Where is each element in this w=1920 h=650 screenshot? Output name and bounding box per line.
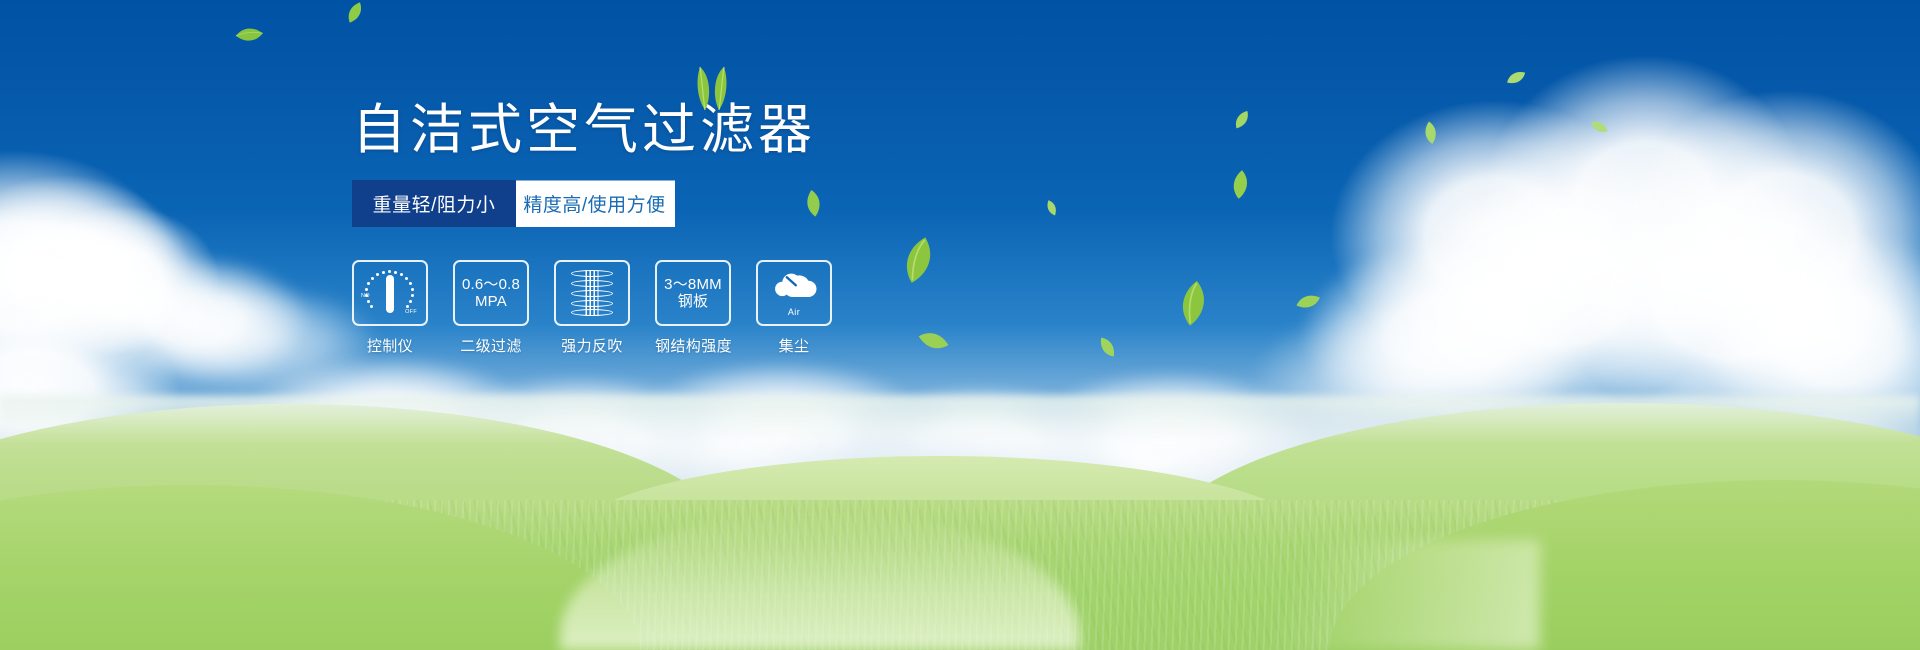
dial-min-label: NO xyxy=(361,293,370,299)
product-banner: 自洁式空气过滤器 重量轻/阻力小 精度高/使用方便 xyxy=(0,0,1920,650)
cloud-air-icon: Air xyxy=(768,270,820,316)
feature-icon-box: 0.6～0.8 MPA xyxy=(453,260,529,326)
feature-item-backblow[interactable]: 强力反吹 xyxy=(554,260,630,356)
feature-icon-box: 3～8MM 钢板 xyxy=(655,260,731,326)
steel-thickness: 3～8MM xyxy=(664,276,722,293)
dial-max-label: OFF xyxy=(405,309,417,315)
steel-plate-text-icon: 3～8MM 钢板 xyxy=(664,276,722,311)
feature-label: 强力反吹 xyxy=(554,335,630,356)
pressure-unit: MPA xyxy=(462,293,520,310)
banner-content: 自洁式空气过滤器 重量轻/阻力小 精度高/使用方便 xyxy=(352,100,1052,356)
feature-item-pressure[interactable]: 0.6～0.8 MPA 二级过滤 xyxy=(453,260,529,356)
tag-precision-convenience[interactable]: 精度高/使用方便 xyxy=(502,180,675,227)
feature-label: 集尘 xyxy=(756,335,832,356)
leaf-pair-icon xyxy=(681,64,741,110)
steel-material: 钢板 xyxy=(664,293,722,310)
feature-icon-box: NO OFF xyxy=(352,260,428,326)
title-block: 自洁式空气过滤器 xyxy=(352,100,1052,160)
feature-icon-box xyxy=(554,260,630,326)
tag-group: 重量轻/阻力小 精度高/使用方便 xyxy=(352,180,675,227)
pressure-text-icon: 0.6～0.8 MPA xyxy=(462,276,520,311)
feature-item-steel[interactable]: 3～8MM 钢板 钢结构强度 xyxy=(655,260,731,356)
dial-gauge-icon: NO OFF xyxy=(361,268,419,318)
feature-list: NO OFF 控制仪 0.6～0.8 MPA 二级过滤 xyxy=(352,260,1052,356)
air-label: Air xyxy=(768,307,820,317)
grass-field xyxy=(0,410,1920,650)
feature-label: 二级过滤 xyxy=(453,335,529,356)
feature-icon-box: Air xyxy=(756,260,832,326)
feature-item-controller[interactable]: NO OFF 控制仪 xyxy=(352,260,428,356)
tag-weight-resistance[interactable]: 重量轻/阻力小 xyxy=(352,180,516,227)
spring-coil-icon xyxy=(571,268,613,318)
pressure-range: 0.6～0.8 xyxy=(462,276,520,293)
feature-item-dust[interactable]: Air 集尘 xyxy=(756,260,832,356)
feature-label: 控制仪 xyxy=(352,335,428,356)
feature-label: 钢结构强度 xyxy=(655,335,731,356)
